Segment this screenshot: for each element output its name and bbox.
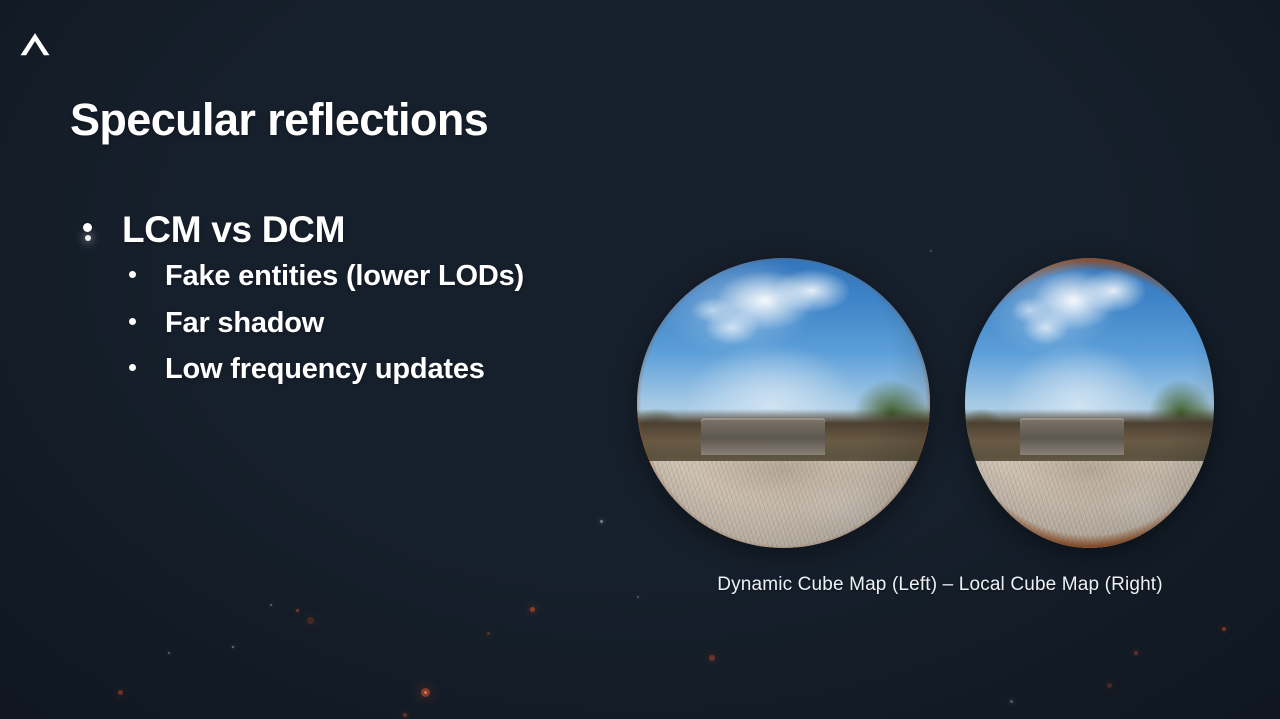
reflection-environment [965, 258, 1214, 548]
slide-canvas: Specular reflections LCM vs DCM Fake ent… [0, 0, 1280, 719]
bullet-dot-icon [129, 364, 136, 371]
bullet-level2-label: Fake entities (lower LODs) [165, 253, 524, 299]
bullet-level2-label: Low frequency updates [165, 346, 485, 392]
bullet-level2: Fake entities (lower LODs) [70, 253, 670, 299]
bullet-level1-label: LCM vs DCM [122, 206, 345, 253]
bullet-list: LCM vs DCM Fake entities (lower LODs) Fa… [70, 206, 670, 393]
bullet-level1: LCM vs DCM [70, 206, 670, 253]
sphere-dynamic-cube-map [637, 258, 930, 548]
bullet-level2-label: Far shadow [165, 300, 324, 346]
sphere-shading [965, 258, 1214, 548]
bullet-dot-icon [129, 271, 136, 278]
sphere-shading [637, 258, 930, 548]
bullet-level2: Far shadow [70, 300, 670, 346]
bullet-dot-icon [83, 223, 92, 232]
arm-chevron-logo-icon [18, 28, 52, 62]
figure-caption: Dynamic Cube Map (Left) – Local Cube Map… [640, 574, 1240, 596]
sphere-local-cube-map [965, 258, 1214, 548]
bullet-dot-icon [129, 318, 136, 325]
bullet-level2: Low frequency updates [70, 346, 670, 392]
page-title: Specular reflections [70, 94, 488, 146]
reflection-environment [637, 258, 930, 548]
